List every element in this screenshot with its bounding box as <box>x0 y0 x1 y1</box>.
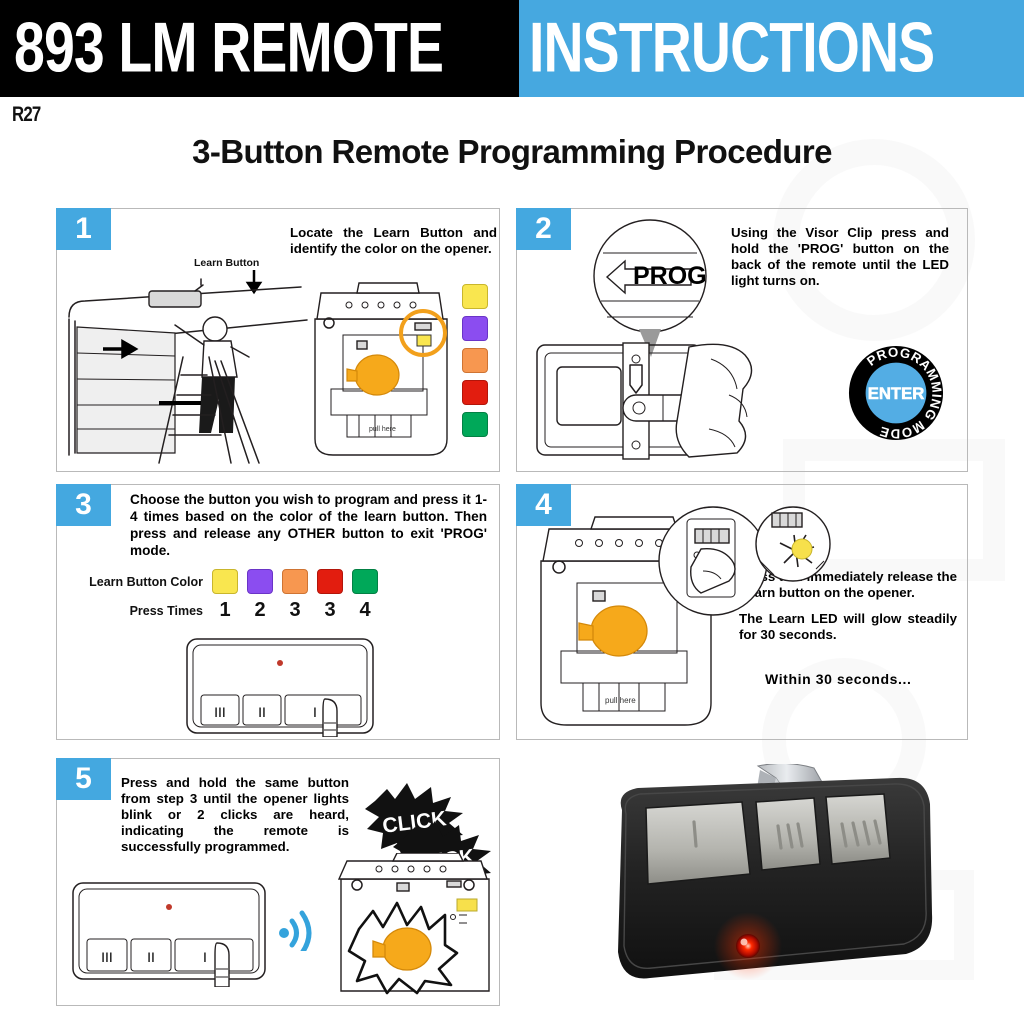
learn-color-row: Learn Button Color <box>77 569 378 594</box>
table-swatch-orange <box>282 569 308 594</box>
garage-scene-illustration <box>63 257 313 467</box>
remote-button-mark-2: II <box>258 704 266 720</box>
remote-button-mark-1-step5: I <box>203 949 207 965</box>
step-2-badge: 2 <box>516 208 571 250</box>
press-times-3: 3 <box>282 599 308 622</box>
press-times-4: 3 <box>317 599 343 622</box>
press-times-2: 2 <box>247 599 273 622</box>
remote-button-mark-1: I <box>313 704 317 720</box>
remote-button-mark-3-step5: III <box>101 949 113 965</box>
table-swatch-yellow <box>212 569 238 594</box>
step-2-text: Using the Visor Clip press and hold the … <box>731 225 949 289</box>
step-4-panel: 4 Press and immediately release the Lear… <box>516 484 968 740</box>
swatch-yellow <box>462 284 488 309</box>
svg-text:pull here: pull here <box>605 696 636 705</box>
glowing-led-detail <box>754 505 832 583</box>
press-times-row-label: Press Times <box>77 604 203 618</box>
press-times-row: Press Times 1 2 3 3 4 <box>77 599 378 622</box>
learn-button-press-magnifier <box>657 505 769 617</box>
signal-waves-icon <box>279 903 321 951</box>
step-2-panel: 2 Using the Visor Clip press and hold th… <box>516 208 968 472</box>
prog-label: PROG <box>633 262 707 290</box>
step-4-text-2: The Learn LED will glow steadily for 30 … <box>739 611 957 643</box>
programming-mode-badge: PROGRAMMING MODE ENTER <box>847 344 945 442</box>
swatch-orange <box>462 348 488 373</box>
swatch-red <box>462 380 488 405</box>
revision-code: R27 <box>12 103 40 127</box>
remote-button-mark-2-step5: II <box>147 949 155 965</box>
opener-lights-blink-illustration <box>335 853 495 999</box>
visor-clip-hand-illustration <box>523 337 843 465</box>
learn-color-swatch-column <box>462 284 488 437</box>
step-1-badge: 1 <box>56 208 111 250</box>
remote-line-drawing-step5: III II I <box>71 881 267 987</box>
step-1-text: Locate the Learn Button and identify the… <box>290 225 497 257</box>
header-title-black-text: 893 LM REMOTE <box>14 13 443 84</box>
page-header: 893 LM REMOTE INSTRUCTIONS <box>0 0 1024 97</box>
step-5-panel: 5 Press and hold the same button from st… <box>56 758 500 1006</box>
swatch-green <box>462 412 488 437</box>
remote-line-drawing-step3: III II I <box>185 637 375 737</box>
header-title-black: 893 LM REMOTE <box>0 0 519 97</box>
press-times-1: 1 <box>212 599 238 622</box>
learn-color-table: Learn Button Color Press Times 1 2 3 3 4 <box>77 569 378 622</box>
page-subtitle: 3-Button Remote Programming Procedure <box>0 133 1024 171</box>
header-title-blue-text: INSTRUCTIONS <box>529 13 934 84</box>
step-5-badge: 5 <box>56 758 111 800</box>
table-swatch-red <box>317 569 343 594</box>
product-photo-remote <box>580 764 1000 1012</box>
step-3-badge: 3 <box>56 484 111 526</box>
table-swatch-green <box>352 569 378 594</box>
table-swatch-purple <box>247 569 273 594</box>
enter-label: ENTER <box>868 384 924 403</box>
svg-text:pull here: pull here <box>369 426 396 433</box>
remote-button-mark-3: III <box>214 704 226 720</box>
swatch-purple <box>462 316 488 341</box>
step-5-text: Press and hold the same button from step… <box>121 775 349 855</box>
step-1-panel: 1 Locate the Learn Button and identify t… <box>56 208 500 472</box>
step-3-text: Choose the button you wish to program an… <box>130 491 487 559</box>
press-times-5: 4 <box>352 599 378 622</box>
step-3-panel: 3 Choose the button you wish to program … <box>56 484 500 740</box>
step-4-text-3: Within 30 seconds... <box>765 671 965 687</box>
opener-unit-illustration: pull here <box>307 279 455 467</box>
learn-color-row-label: Learn Button Color <box>77 575 203 589</box>
header-title-blue: INSTRUCTIONS <box>519 0 1024 97</box>
